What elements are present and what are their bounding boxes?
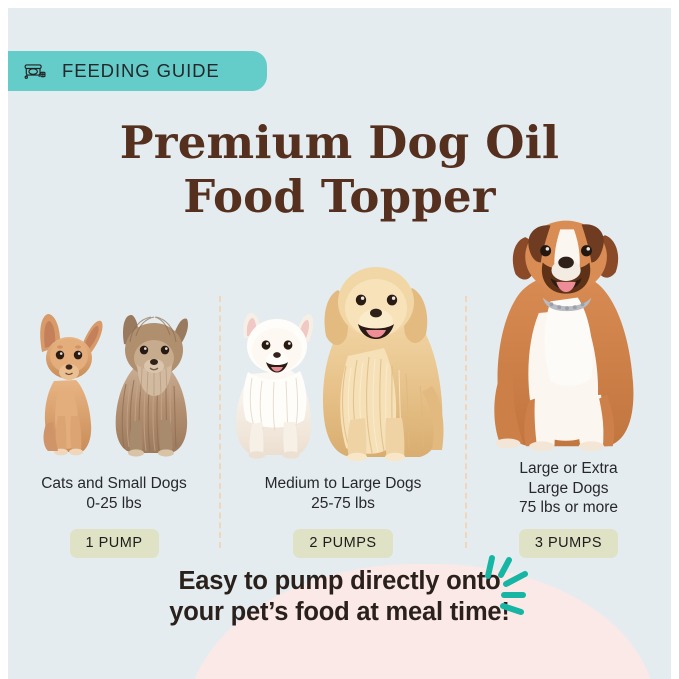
- yorkshire-terrier: [116, 315, 188, 457]
- medium-dogs-artwork: [220, 216, 466, 468]
- feeding-guide-badge: FEEDING GUIDE: [8, 51, 267, 91]
- dosage-column-large: Large or Extra Large Dogs 75 lbs or more…: [466, 208, 671, 558]
- caption-line: Cats and Small Dogs: [41, 474, 187, 494]
- boxer-dog: [494, 221, 633, 452]
- dose-badge-medium: 2 PUMPS: [293, 529, 392, 558]
- title-line-2: Food Topper: [8, 170, 671, 224]
- dog-food-container-icon: [22, 58, 48, 84]
- title-line-1: Premium Dog Oil: [8, 116, 671, 170]
- dosage-columns: Cats and Small Dogs 0-25 lbs 1 PUMP: [8, 208, 671, 558]
- tagline-line-2: your pet’s food at meal time!: [8, 597, 671, 628]
- caption-line: 0-25 lbs: [41, 494, 187, 514]
- caption-line: Large Dogs: [519, 479, 618, 499]
- pomeranian-and-golden-retriever-illustration: [220, 216, 466, 468]
- golden-retriever: [323, 267, 444, 461]
- caption-line: Large or Extra: [519, 459, 618, 479]
- sparkle-burst-icon: [474, 550, 538, 618]
- white-pomeranian: [236, 313, 313, 459]
- small-dogs-artwork: [8, 216, 220, 468]
- tagline-line-1: Easy to pump directly onto: [8, 566, 671, 597]
- dosage-column-medium: Medium to Large Dogs 25-75 lbs 2 PUMPS: [220, 208, 466, 558]
- chihuahua-and-yorkshire-terrier-illustration: [8, 216, 220, 468]
- caption-line: 75 lbs or more: [519, 498, 618, 518]
- caption-line: Medium to Large Dogs: [265, 474, 422, 494]
- tagline: Easy to pump directly onto your pet’s fo…: [8, 566, 671, 628]
- large-dogs-artwork: [466, 208, 671, 453]
- medium-dogs-caption: Medium to Large Dogs 25-75 lbs: [265, 474, 422, 516]
- chihuahua: [40, 314, 102, 455]
- feeding-guide-infographic: FEEDING GUIDE Premium Dog Oil Food Toppe…: [0, 0, 679, 679]
- large-dogs-caption: Large or Extra Large Dogs 75 lbs or more: [519, 459, 618, 516]
- poster-canvas: FEEDING GUIDE Premium Dog Oil Food Toppe…: [8, 8, 671, 679]
- boxer-dog-illustration: [466, 208, 671, 453]
- column-divider-2: [465, 296, 467, 548]
- dose-badge-small: 1 PUMP: [70, 529, 159, 558]
- feeding-guide-badge-label: FEEDING GUIDE: [62, 60, 220, 82]
- dosage-column-small: Cats and Small Dogs 0-25 lbs 1 PUMP: [8, 208, 220, 558]
- caption-line: 25-75 lbs: [265, 494, 422, 514]
- page-title: Premium Dog Oil Food Topper: [8, 116, 671, 224]
- column-divider-1: [219, 296, 221, 548]
- small-dogs-caption: Cats and Small Dogs 0-25 lbs: [41, 474, 187, 516]
